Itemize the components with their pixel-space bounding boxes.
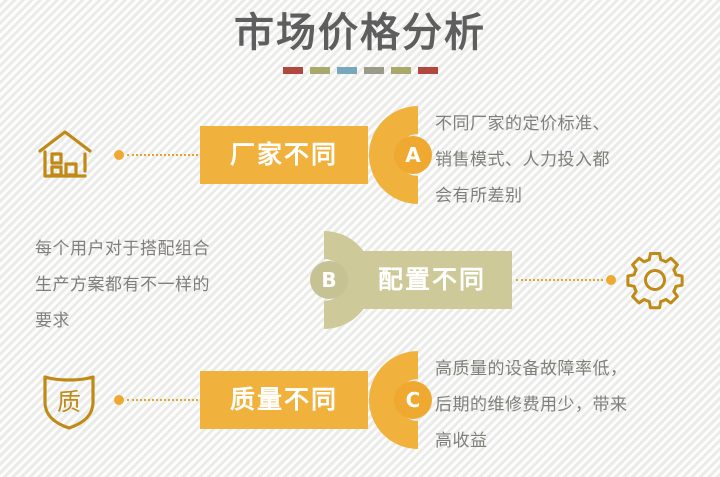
infographic-canvas: 市场价格分析 (0, 0, 720, 477)
banner-a[interactable]: 厂家不同 (200, 126, 368, 184)
feature-row-manufacturer: A 厂家不同 不同厂家的定价标准、 销售模式、人力投入都 会有所差别 (0, 100, 720, 210)
connector-line-c (114, 395, 214, 405)
header: 市场价格分析 (0, 6, 720, 74)
feature-row-configuration: 每个用户对于搭配组合 生产方案都有不一样的 要求 B 配置不同 (0, 225, 720, 335)
connector-dot-a (114, 150, 124, 160)
description-b: 每个用户对于搭配组合 生产方案都有不一样的 要求 (35, 231, 295, 339)
description-c: 高质量的设备故障率低， 后期的维修费用少，带来 高收益 (435, 351, 700, 459)
banner-label-c: 质量不同 (230, 386, 338, 414)
badge-letter-a: A (405, 143, 421, 167)
factory-house-icon (32, 122, 98, 188)
banner-label-a: 厂家不同 (230, 141, 338, 169)
divider-dash-2 (310, 67, 330, 74)
feature-row-quality: 质 C 质量不同 高质量的设备故障率低， 后期的维修费用少，带来 高收益 (0, 345, 720, 455)
description-a: 不同厂家的定价标准、 销售模式、人力投入都 会有所差别 (435, 106, 700, 214)
divider-dash-5 (391, 67, 411, 74)
divider-dash-1 (283, 67, 303, 74)
page-title: 市场价格分析 (0, 6, 720, 60)
title-divider (0, 67, 720, 74)
banner-c[interactable]: 质量不同 (200, 371, 368, 429)
connector-dot-b (606, 275, 616, 285)
connector-line-a (114, 150, 214, 160)
divider-dash-6 (418, 67, 438, 74)
gear-icon (622, 247, 688, 313)
badge-letter-b: B (321, 268, 336, 292)
divider-dash-3 (337, 67, 357, 74)
divider-dash-4 (364, 67, 384, 74)
banner-b[interactable]: 配置不同 (352, 251, 512, 309)
banner-label-b: 配置不同 (378, 266, 486, 294)
connector-dot-c (114, 395, 124, 405)
connector-line-b (516, 275, 616, 285)
shield-glyph: 质 (57, 388, 81, 416)
badge-letter-c: C (406, 388, 421, 412)
quality-shield-icon: 质 (36, 367, 102, 433)
